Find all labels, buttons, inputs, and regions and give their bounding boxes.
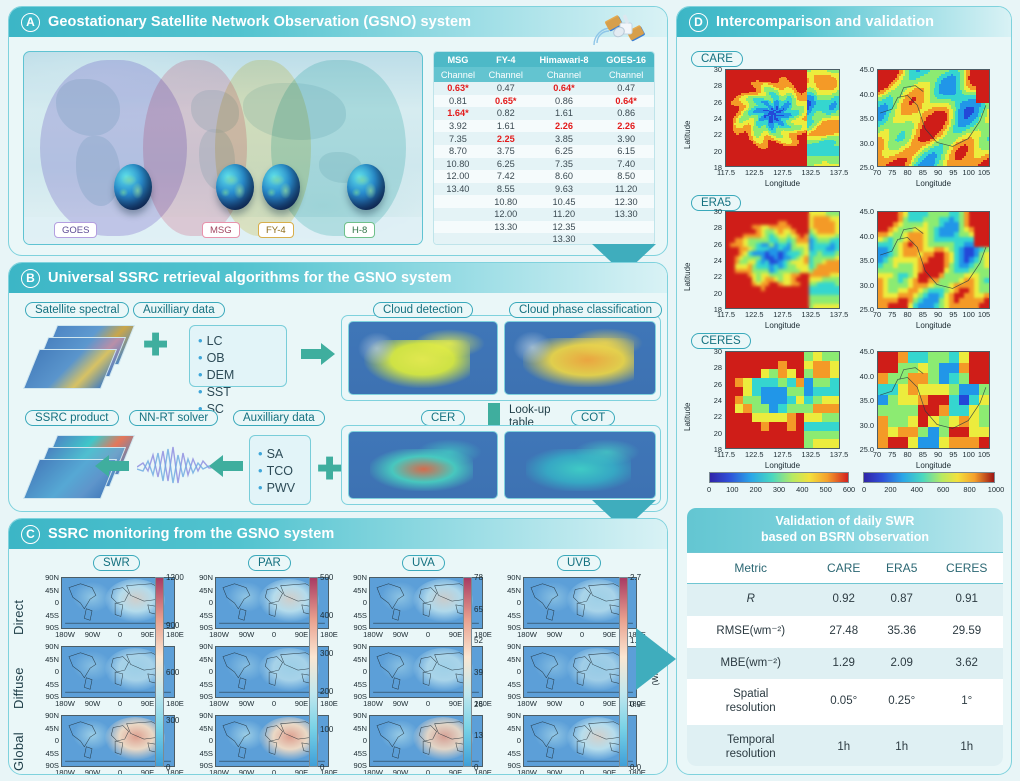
c-ytick: 90N xyxy=(501,711,521,720)
d-cbar-right-tick-3: 600 xyxy=(933,485,953,494)
channel-cell-9-0 xyxy=(434,195,482,208)
c-xtick: 180W xyxy=(515,630,539,639)
d-left-xtick: 122.5 xyxy=(739,450,769,459)
d-right-xtick: 105 xyxy=(975,310,993,319)
table-row: 3.921.612.262.26 xyxy=(434,120,654,133)
d-right-ytick: 35.0 xyxy=(851,114,874,123)
colorbar-right xyxy=(863,472,995,483)
c-xtick: 180W xyxy=(53,768,77,775)
c-xtick: 90E xyxy=(598,768,622,775)
d-cbar-right-tick-0: 0 xyxy=(854,485,874,494)
channel-cell-8-0: 13.40 xyxy=(434,183,482,196)
channel-cell-2-3: 0.86 xyxy=(598,107,654,120)
map-cot xyxy=(504,431,656,499)
d-cbar-right-tick-1: 200 xyxy=(880,485,900,494)
channel-cell-0-0: 0.63* xyxy=(434,82,482,95)
c-xtick: 180E xyxy=(317,699,341,708)
c-ytick: 45N xyxy=(501,724,521,733)
table-row: 1.64*0.821.610.86 xyxy=(434,107,654,120)
label-ssrc-product: SSRC product xyxy=(25,410,119,426)
panel-c-badge: C xyxy=(21,525,40,544)
c-xtick: 0 xyxy=(570,630,594,639)
label-nnrt-solver: NN-RT solver xyxy=(129,410,218,426)
channel-cell-7-0: 12.00 xyxy=(434,170,482,183)
validation-header-row: MetricCAREERA5CERES xyxy=(687,553,1003,584)
channel-table-header-row: MSGFY-4Himawari-8GOES-16 xyxy=(434,52,654,67)
channel-cell-6-0: 10.80 xyxy=(434,158,482,171)
label-cer: CER xyxy=(421,410,465,426)
colorbar-tick-swr-0: 1200 xyxy=(166,573,184,582)
satellite-icon xyxy=(593,9,655,49)
table-row: 8.703.756.256.15 xyxy=(434,145,654,158)
channel-cell-1-3: 0.64* xyxy=(598,95,654,108)
panel-b-badge: B xyxy=(21,269,40,288)
c-ytick: 0 xyxy=(501,598,521,607)
colorbar-tick-uvb-2: 0.9 xyxy=(630,700,641,709)
validation-cell-0-2: 0.91 xyxy=(930,584,1003,616)
d-left-ytick: 24 xyxy=(701,256,722,265)
d-right-ytick: 30.0 xyxy=(851,281,874,290)
validation-cell-3-0: 0.05° xyxy=(814,679,872,725)
channel-cell-9-2: 10.45 xyxy=(530,195,599,208)
d-left-xtick: 127.5 xyxy=(768,450,798,459)
d-right-ytick: 35.0 xyxy=(851,396,874,405)
channel-cell-10-1: 12.00 xyxy=(482,208,530,221)
label-uvb: UVB xyxy=(557,555,601,571)
channel-cell-0-1: 0.47 xyxy=(482,82,530,95)
validation-header-metric: Metric xyxy=(687,553,814,584)
channel-header-3: GOES-16 xyxy=(598,52,654,67)
channel-cell-12-1 xyxy=(482,233,530,245)
d-cbar-right-tick-4: 800 xyxy=(960,485,980,494)
channel-cell-1-0: 0.81 xyxy=(434,95,482,108)
validation-metric-2: MBE(wm⁻²) xyxy=(687,648,814,680)
c-ytick: 45N xyxy=(347,655,367,664)
c-ytick: 90N xyxy=(193,573,213,582)
colorbar-tick-uva-1: 65 xyxy=(474,605,483,614)
c-xtick: 0 xyxy=(416,699,440,708)
validation-cell-1-1: 35.36 xyxy=(873,616,931,648)
c-xtick: 180W xyxy=(361,768,385,775)
panel-d: D Intercomparison and validation CARE ER… xyxy=(676,6,1012,775)
c-xtick: 180W xyxy=(515,768,539,775)
d-cbar-right-tick-5: 1000 xyxy=(986,485,1006,494)
c-ytick: 0 xyxy=(347,667,367,676)
connector-c-to-d xyxy=(636,628,676,690)
validation-header-era5: ERA5 xyxy=(873,553,931,584)
table-row: Spatialresolution0.05°0.25°1° xyxy=(687,679,1003,725)
c-xtick: 90W xyxy=(81,630,105,639)
d-cbar-left-tick-3: 300 xyxy=(770,485,788,494)
panel-c-header: C SSRC monitoring from the GSNO system xyxy=(9,519,667,549)
c-ytick: 45N xyxy=(39,586,59,595)
panel-c: C SSRC monitoring from the GSNO system S… xyxy=(8,518,668,775)
d-left-xtick: 117.5 xyxy=(711,168,741,177)
c-ytick: 0 xyxy=(39,667,59,676)
validation-cell-4-2: 1h xyxy=(930,725,1003,766)
row-label-global: Global xyxy=(11,715,26,771)
colorbar-uvb xyxy=(619,577,628,767)
d-left-ytick: 24 xyxy=(701,396,722,405)
validation-body: R0.920.870.91RMSE(wm⁻²)27.4835.3629.59MB… xyxy=(687,584,1003,767)
label-uva: UVA xyxy=(402,555,445,571)
c-ytick: 45N xyxy=(501,655,521,664)
colorbar-tick-uvb-3: 0.0 xyxy=(630,763,641,772)
label-aux-data-top: Auxilliary data xyxy=(133,302,225,318)
c-ytick: 45N xyxy=(501,586,521,595)
globe-h8 xyxy=(347,164,385,210)
d-right-xlabel: Longitude xyxy=(877,179,990,188)
d-right-ytick: 30.0 xyxy=(851,139,874,148)
c-xtick: 180W xyxy=(207,699,231,708)
table-row: 13.3012.35 xyxy=(434,221,654,234)
validation-header-ceres: CERES xyxy=(930,553,1003,584)
channel-cell-11-3 xyxy=(598,221,654,234)
d-cbar-right-tick-2: 400 xyxy=(907,485,927,494)
c-ytick: 90N xyxy=(347,642,367,651)
d-left-ytick: 20 xyxy=(701,289,722,298)
c-xtick: 90E xyxy=(598,630,622,639)
d-right-xtick: 105 xyxy=(975,168,993,177)
channel-cell-2-2: 1.61 xyxy=(530,107,599,120)
validation-metric-3: Spatialresolution xyxy=(687,679,814,725)
validation-cell-4-0: 1h xyxy=(814,725,872,766)
c-ytick: 45S xyxy=(193,680,213,689)
c-xtick: 180W xyxy=(515,699,539,708)
map-care-region xyxy=(877,69,990,167)
c-ytick: 45S xyxy=(39,749,59,758)
colorbar-tick-par-1: 400 xyxy=(320,611,333,620)
d-left-ytick: 22 xyxy=(701,130,722,139)
channel-cell-12-0 xyxy=(434,233,482,245)
map-ceres-region xyxy=(877,351,990,449)
c-xtick: 90W xyxy=(235,699,259,708)
aux-data-box-bottom: SA TCO PWV xyxy=(249,435,311,505)
table-row: 10.8010.4512.30 xyxy=(434,195,654,208)
c-xtick: 0 xyxy=(262,768,286,775)
beam-h8 xyxy=(271,60,406,237)
colorbar-tick-uva-2: 52 xyxy=(474,636,483,645)
c-ytick: 90N xyxy=(501,642,521,651)
panel-a-header: A Geostationary Satellite Network Observ… xyxy=(9,7,667,37)
channel-cell-7-2: 8.60 xyxy=(530,170,599,183)
map-cloud-phase xyxy=(504,321,656,395)
d-left-xtick: 132.5 xyxy=(796,168,826,177)
channel-cell-5-2: 6.25 xyxy=(530,145,599,158)
channel-cell-2-1: 0.82 xyxy=(482,107,530,120)
channel-cell-0-2: 0.64* xyxy=(530,82,599,95)
c-xtick: 0 xyxy=(108,699,132,708)
colorbar-tick-uva-3: 39 xyxy=(474,668,483,677)
validation-cell-1-0: 27.48 xyxy=(814,616,872,648)
d-left-ytick: 28 xyxy=(701,363,722,372)
channel-subheader-3: Channel xyxy=(598,67,654,82)
d-right-ytick: 45.0 xyxy=(851,65,874,74)
colorbar-tick-par-4: 100 xyxy=(320,725,333,734)
satellite-spectral-stack xyxy=(31,325,131,387)
c-ytick: 45N xyxy=(347,586,367,595)
d-cbar-left-tick-0: 0 xyxy=(700,485,718,494)
channel-cell-7-1: 7.42 xyxy=(482,170,530,183)
channel-cell-10-0 xyxy=(434,208,482,221)
arrow-left-product-icon xyxy=(95,455,129,477)
c-ytick: 45N xyxy=(347,724,367,733)
c-xtick: 180E xyxy=(163,699,187,708)
c-ytick: 45S xyxy=(347,680,367,689)
colorbar-tick-par-5: 0 xyxy=(320,763,324,772)
channel-cell-10-2: 11.20 xyxy=(530,208,599,221)
c-ytick: 0 xyxy=(501,667,521,676)
d-left-ytick: 20 xyxy=(701,429,722,438)
channel-cell-4-3: 3.90 xyxy=(598,132,654,145)
c-xtick: 0 xyxy=(108,768,132,775)
d-right-xlabel: Longitude xyxy=(877,321,990,330)
d-left-ytick: 26 xyxy=(701,240,722,249)
validation-header-care: CARE xyxy=(814,553,872,584)
c-xtick: 90W xyxy=(389,699,413,708)
colorbar-par xyxy=(309,577,318,767)
c-xtick: 90W xyxy=(81,768,105,775)
d-right-xlabel: Longitude xyxy=(877,461,990,470)
sat-label-msg: MSG xyxy=(202,222,240,238)
channel-cell-11-2: 12.35 xyxy=(530,221,599,234)
c-ytick: 45N xyxy=(193,724,213,733)
table-row: 0.810.65*0.860.64* xyxy=(434,95,654,108)
c-ytick: 45S xyxy=(501,611,521,620)
d-cbar-left-tick-4: 400 xyxy=(793,485,811,494)
d-left-xlabel: Longitude xyxy=(725,461,840,470)
c-xtick: 180E xyxy=(163,630,187,639)
colorbar-tick-par-3: 200 xyxy=(320,687,333,696)
aux-item-sa: SA xyxy=(258,446,302,461)
d-left-xtick: 122.5 xyxy=(739,168,769,177)
channel-cell-8-3: 11.20 xyxy=(598,183,654,196)
colorbar-tick-uva-0: 78 xyxy=(474,573,483,582)
c-xtick: 90E xyxy=(444,768,468,775)
channel-header-1: FY-4 xyxy=(482,52,530,67)
c-xtick: 0 xyxy=(108,630,132,639)
colorbar-tick-swr-4: 0 xyxy=(166,763,170,772)
channel-table-body: 0.63*0.470.64*0.470.810.65*0.860.64*1.64… xyxy=(434,82,654,245)
map-era5-region xyxy=(877,211,990,309)
colorbar-tick-uvb-0: 2.7 xyxy=(630,573,641,582)
d-left-ylabel: Latitude xyxy=(683,91,692,149)
channel-cell-6-1: 6.25 xyxy=(482,158,530,171)
label-cot: COT xyxy=(571,410,615,426)
table-row: 0.63*0.470.64*0.47 xyxy=(434,82,654,95)
validation-cell-0-0: 0.92 xyxy=(814,584,872,616)
channel-cell-0-3: 0.47 xyxy=(598,82,654,95)
channel-cell-4-0: 7.35 xyxy=(434,132,482,145)
channel-cell-3-1: 1.61 xyxy=(482,120,530,133)
aux-item-sst: SST xyxy=(198,384,238,399)
map-era5-typhoon xyxy=(725,211,840,309)
d-left-xtick: 137.5 xyxy=(824,310,854,319)
colorbar-swr xyxy=(155,577,164,767)
d-left-ytick: 20 xyxy=(701,147,722,156)
c-xtick: 90W xyxy=(235,630,259,639)
c-ytick: 90N xyxy=(347,573,367,582)
d-left-xtick: 132.5 xyxy=(796,450,826,459)
c-xtick: 0 xyxy=(570,768,594,775)
row-label-diffuse: Diffuse xyxy=(11,649,26,709)
channel-cell-12-2: 13.30 xyxy=(530,233,599,245)
label-cloud-detection: Cloud detection xyxy=(373,302,473,318)
map-care-typhoon xyxy=(725,69,840,167)
c-xtick: 90E xyxy=(136,768,160,775)
d-left-xtick: 117.5 xyxy=(711,450,741,459)
colorbar-tick-swr-3: 300 xyxy=(166,716,179,725)
validation-cell-2-2: 3.62 xyxy=(930,648,1003,680)
d-left-xlabel: Longitude xyxy=(725,179,840,188)
channel-cell-5-0: 8.70 xyxy=(434,145,482,158)
colorbar-tick-swr-1: 900 xyxy=(166,621,179,630)
label-satellite-spectral: Satellite spectral xyxy=(25,302,129,318)
arrow-right-top-icon xyxy=(301,343,335,365)
figure-root: A Geostationary Satellite Network Observ… xyxy=(0,0,1020,781)
channel-cell-1-1: 0.65* xyxy=(482,95,530,108)
d-left-ytick: 28 xyxy=(701,223,722,232)
channel-cell-9-1: 10.80 xyxy=(482,195,530,208)
d-right-xtick: 105 xyxy=(975,450,993,459)
table-row: 12.0011.2013.30 xyxy=(434,208,654,221)
aux-item-pwv: PWV xyxy=(258,480,302,495)
validation-table-title: Validation of daily SWR based on BSRN ob… xyxy=(687,508,1003,552)
cloud-maps-box xyxy=(341,315,661,401)
d-left-ylabel: Latitude xyxy=(683,373,692,431)
c-ytick: 90N xyxy=(193,642,213,651)
d-left-xtick: 137.5 xyxy=(824,450,854,459)
panel-d-title: Intercomparison and validation xyxy=(716,14,934,30)
sat-label-h8: H-8 xyxy=(344,222,375,238)
c-ytick: 90N xyxy=(501,573,521,582)
channel-subheader-0: Channel xyxy=(434,67,482,82)
validation-cell-2-0: 1.29 xyxy=(814,648,872,680)
validation-metric-0: R xyxy=(687,584,814,616)
c-xtick: 180W xyxy=(53,699,77,708)
table-row: R0.920.870.91 xyxy=(687,584,1003,616)
channel-cell-6-3: 7.40 xyxy=(598,158,654,171)
panel-a-title: Geostationary Satellite Network Observat… xyxy=(48,14,471,30)
colorbar-uva xyxy=(463,577,472,767)
c-ytick: 0 xyxy=(193,667,213,676)
c-xtick: 90W xyxy=(543,630,567,639)
channel-cell-4-1: 2.25 xyxy=(482,132,530,145)
channel-table: MSGFY-4Himawari-8GOES-16 ChannelChannelC… xyxy=(433,51,655,245)
c-xtick: 90W xyxy=(543,768,567,775)
c-xtick: 90W xyxy=(81,699,105,708)
c-xtick: 0 xyxy=(416,768,440,775)
channel-cell-5-1: 3.75 xyxy=(482,145,530,158)
channel-subheader-2: Channel xyxy=(530,67,599,82)
d-left-ytick: 22 xyxy=(701,412,722,421)
c-xtick: 90W xyxy=(543,699,567,708)
d-left-ytick: 24 xyxy=(701,114,722,123)
lookup-line1: Look-up xyxy=(509,404,551,417)
d-cbar-left-tick-5: 500 xyxy=(817,485,835,494)
table-row: Temporalresolution1h1h1h xyxy=(687,725,1003,766)
channel-cell-3-2: 2.26 xyxy=(530,120,599,133)
sat-label-fy4: FY-4 xyxy=(258,222,294,238)
d-right-ytick: 40.0 xyxy=(851,90,874,99)
d-left-ytick: 30 xyxy=(701,207,722,216)
colorbar-tick-uva-6: 0 xyxy=(474,763,478,772)
d-right-ytick: 35.0 xyxy=(851,256,874,265)
validation-title-line2: based on BSRN observation xyxy=(761,530,929,546)
colorbar-tick-par-2: 300 xyxy=(320,649,333,658)
globe-msg xyxy=(216,164,254,210)
aux-item-ob: OB xyxy=(198,350,238,365)
panel-a-badge: A xyxy=(21,13,40,32)
globe-goes xyxy=(114,164,152,210)
label-swr: SWR xyxy=(93,555,140,571)
d-left-xlabel: Longitude xyxy=(725,321,840,330)
d-right-ytick: 45.0 xyxy=(851,347,874,356)
c-ytick: 45S xyxy=(347,611,367,620)
d-left-ytick: 30 xyxy=(701,347,722,356)
colorbar-tick-uva-5: 13 xyxy=(474,731,483,740)
channel-cell-2-0: 1.64* xyxy=(434,107,482,120)
c-xtick: 180W xyxy=(53,630,77,639)
c-ytick: 0 xyxy=(193,736,213,745)
row-label-direct: Direct xyxy=(11,581,26,635)
label-par: PAR xyxy=(248,555,291,571)
panel-a: A Geostationary Satellite Network Observ… xyxy=(8,6,668,256)
channel-cell-8-2: 9.63 xyxy=(530,183,599,196)
table-row: MBE(wm⁻²)1.292.093.62 xyxy=(687,648,1003,680)
channel-cell-3-3: 2.26 xyxy=(598,120,654,133)
d-left-xtick: 117.5 xyxy=(711,310,741,319)
c-xtick: 90W xyxy=(389,630,413,639)
c-xtick: 90W xyxy=(389,768,413,775)
channel-cell-1-2: 0.86 xyxy=(530,95,599,108)
d-left-ylabel: Latitude xyxy=(683,233,692,291)
c-xtick: 90E xyxy=(290,768,314,775)
channel-header-2: Himawari-8 xyxy=(530,52,599,67)
c-xtick: 0 xyxy=(262,699,286,708)
aux-item-lc: LC xyxy=(198,333,236,348)
d-left-ytick: 22 xyxy=(701,272,722,281)
c-ytick: 45S xyxy=(39,680,59,689)
c-ytick: 45S xyxy=(39,611,59,620)
d-right-ytick: 40.0 xyxy=(851,372,874,381)
channel-cell-8-1: 8.55 xyxy=(482,183,530,196)
channel-cell-4-2: 3.85 xyxy=(530,132,599,145)
d-left-xtick: 132.5 xyxy=(796,310,826,319)
c-xtick: 90W xyxy=(235,768,259,775)
c-ytick: 45N xyxy=(193,655,213,664)
channel-subheader-1: Channel xyxy=(482,67,530,82)
channel-cell-10-3: 13.30 xyxy=(598,208,654,221)
table-row: RMSE(wm⁻²)27.4835.3629.59 xyxy=(687,616,1003,648)
c-ytick: 45N xyxy=(39,724,59,733)
channel-cell-11-1: 13.30 xyxy=(482,221,530,234)
globe-fy4 xyxy=(262,164,300,210)
d-right-ytick: 40.0 xyxy=(851,232,874,241)
validation-cell-4-1: 1h xyxy=(873,725,931,766)
c-ytick: 45S xyxy=(193,611,213,620)
c-ytick: 90N xyxy=(347,711,367,720)
c-ytick: 90N xyxy=(39,642,59,651)
d-left-xtick: 137.5 xyxy=(824,168,854,177)
d-left-ytick: 26 xyxy=(701,380,722,389)
d-left-xtick: 127.5 xyxy=(768,168,798,177)
colorbar-tick-uva-4: 26 xyxy=(474,700,483,709)
c-ytick: 0 xyxy=(39,736,59,745)
table-row: 7.352.253.853.90 xyxy=(434,132,654,145)
panel-d-header: D Intercomparison and validation xyxy=(677,7,1011,37)
d-cbar-left-tick-2: 200 xyxy=(747,485,765,494)
